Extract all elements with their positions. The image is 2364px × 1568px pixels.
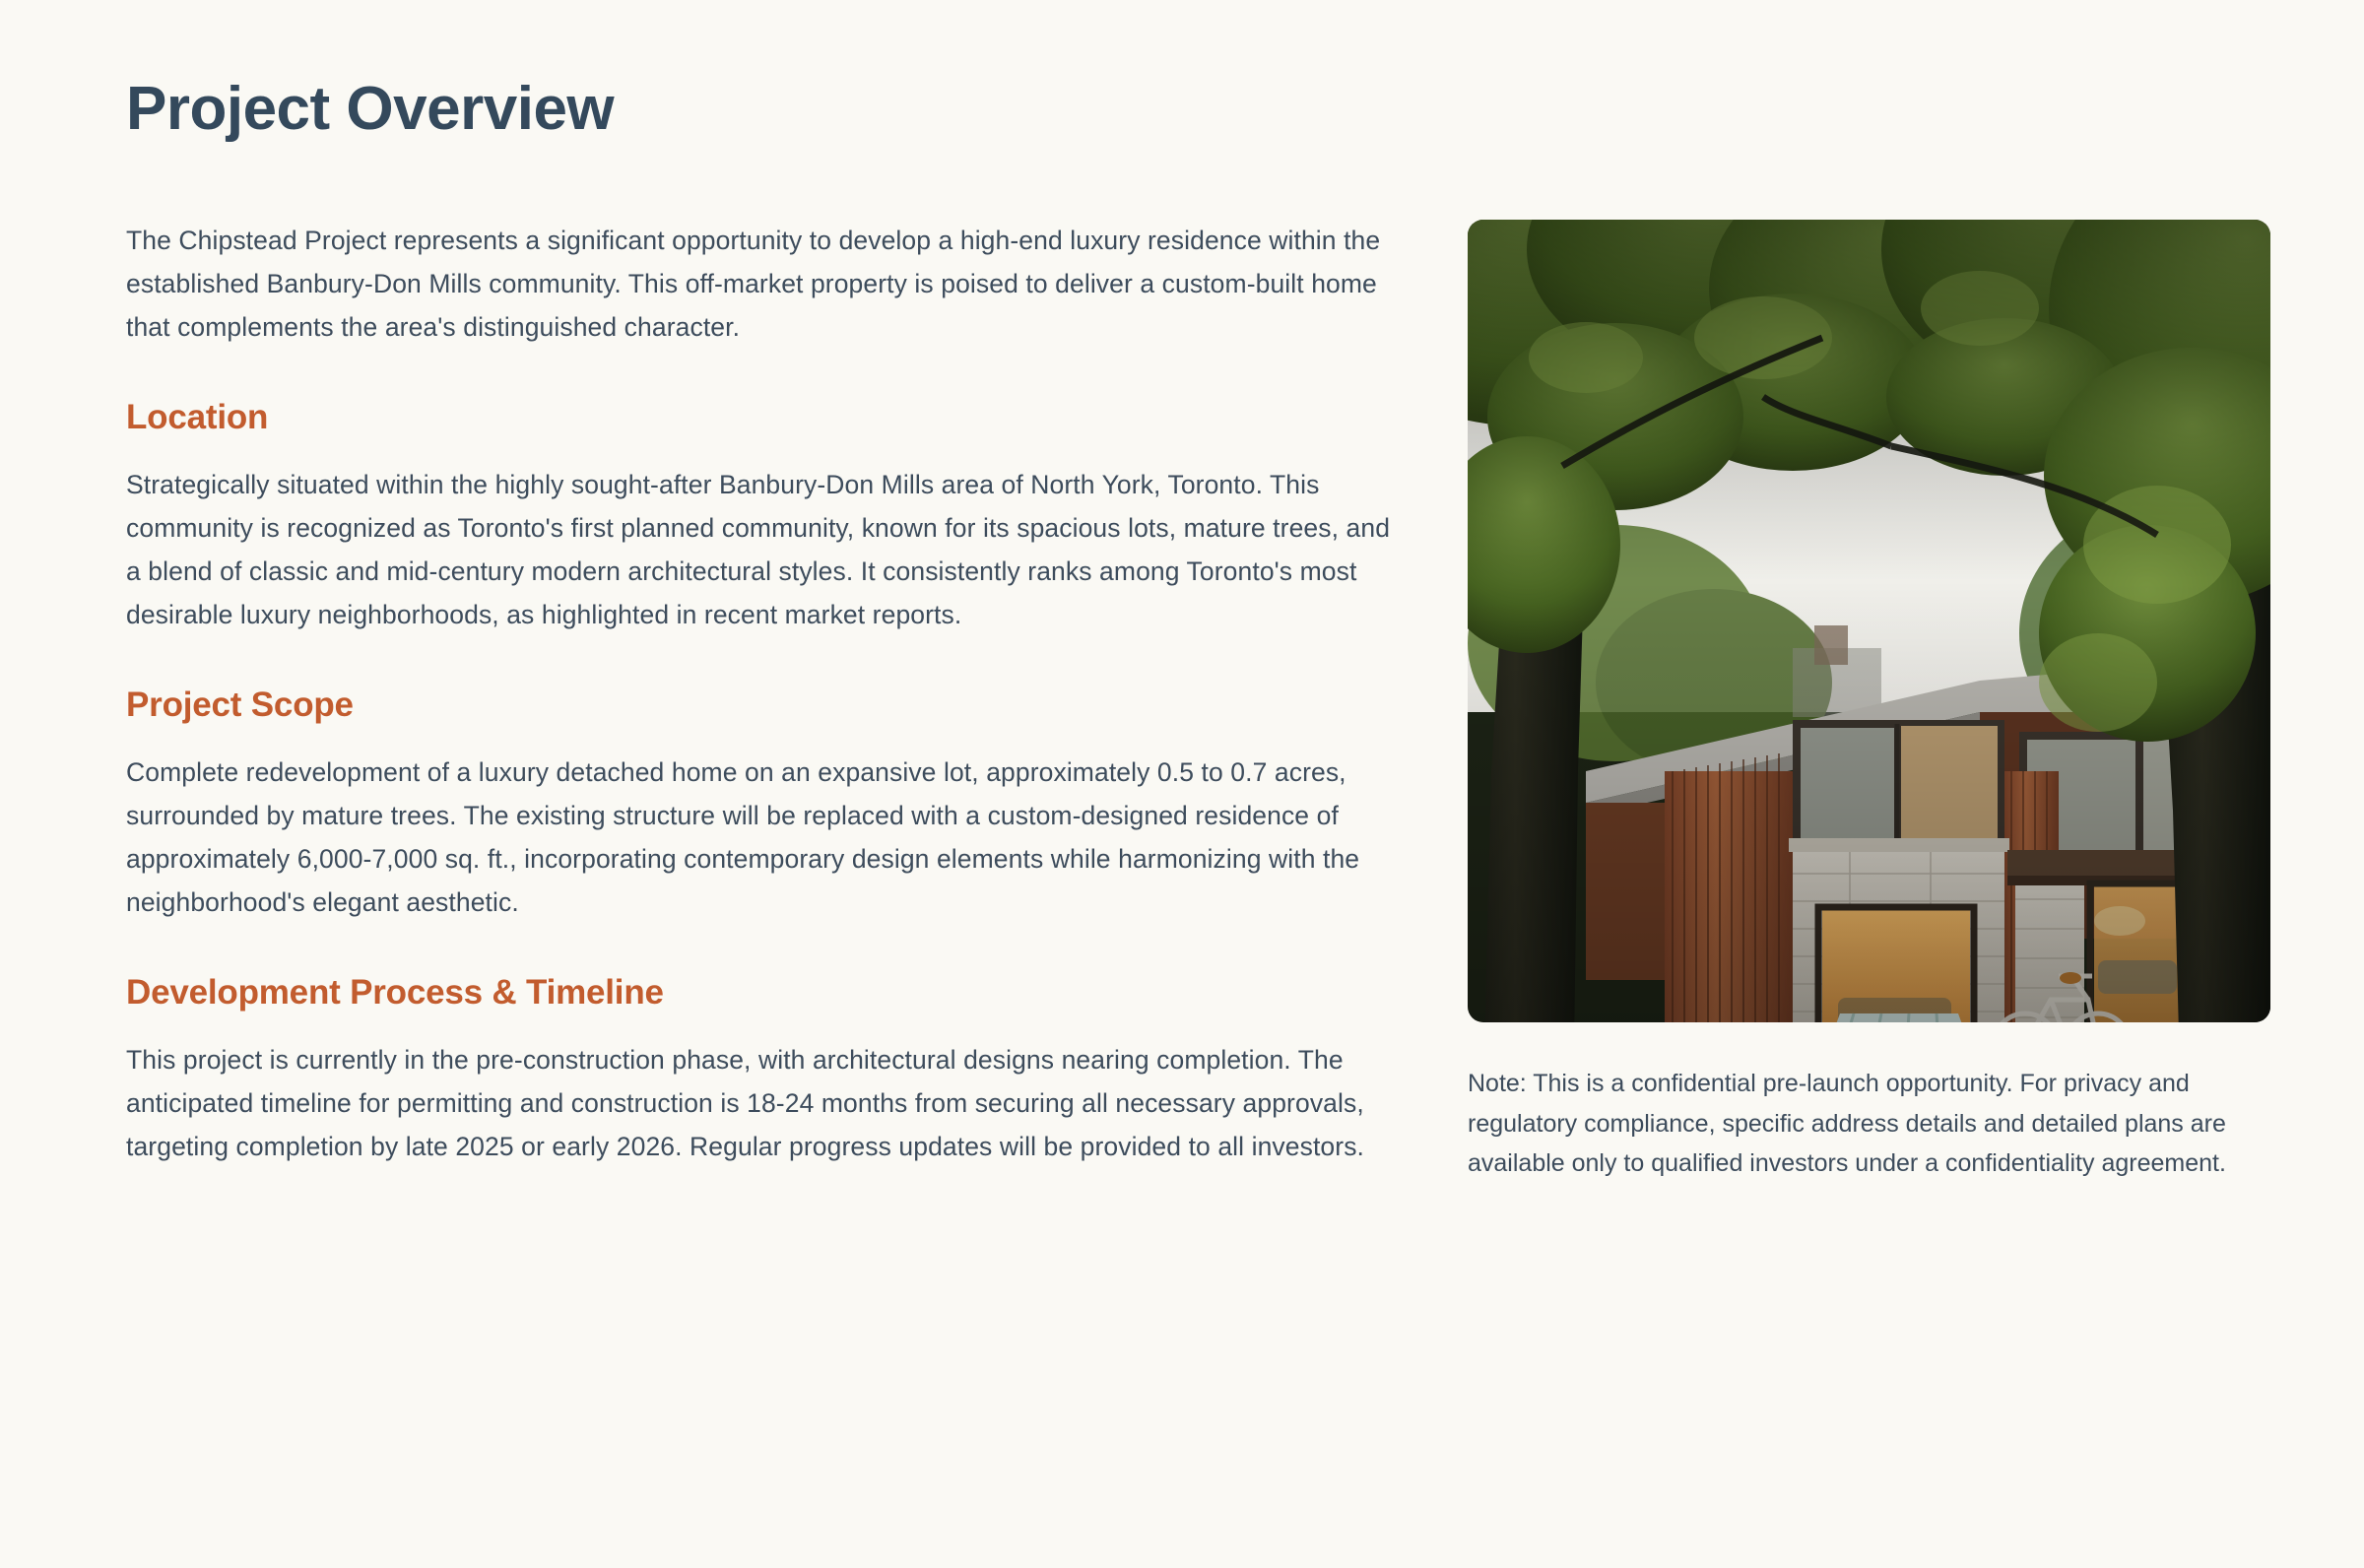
two-column-layout: The Chipstead Project represents a signi… xyxy=(126,220,2238,1184)
section-body-project-scope: Complete redevelopment of a luxury detac… xyxy=(126,751,1397,925)
section-body-location: Strategically situated within the highly… xyxy=(126,464,1397,637)
property-photo-illustration xyxy=(1468,220,2270,1022)
project-overview-page: Project Overview The Chipstead Project r… xyxy=(0,0,2364,1568)
property-photo xyxy=(1468,220,2270,1022)
media-column: Note: This is a confidential pre-launch … xyxy=(1468,220,2270,1184)
section-heading-location: Location xyxy=(126,350,1397,464)
page-title: Project Overview xyxy=(126,0,2238,145)
section-heading-development-process-timeline: Development Process & Timeline xyxy=(126,925,1397,1039)
photo-note: Note: This is a confidential pre-launch … xyxy=(1468,1022,2270,1184)
section-body-development-process-timeline: This project is currently in the pre-con… xyxy=(126,1039,1397,1169)
content-column: The Chipstead Project represents a signi… xyxy=(126,220,1397,1169)
intro-paragraph: The Chipstead Project represents a signi… xyxy=(126,220,1397,350)
section-heading-project-scope: Project Scope xyxy=(126,637,1397,751)
